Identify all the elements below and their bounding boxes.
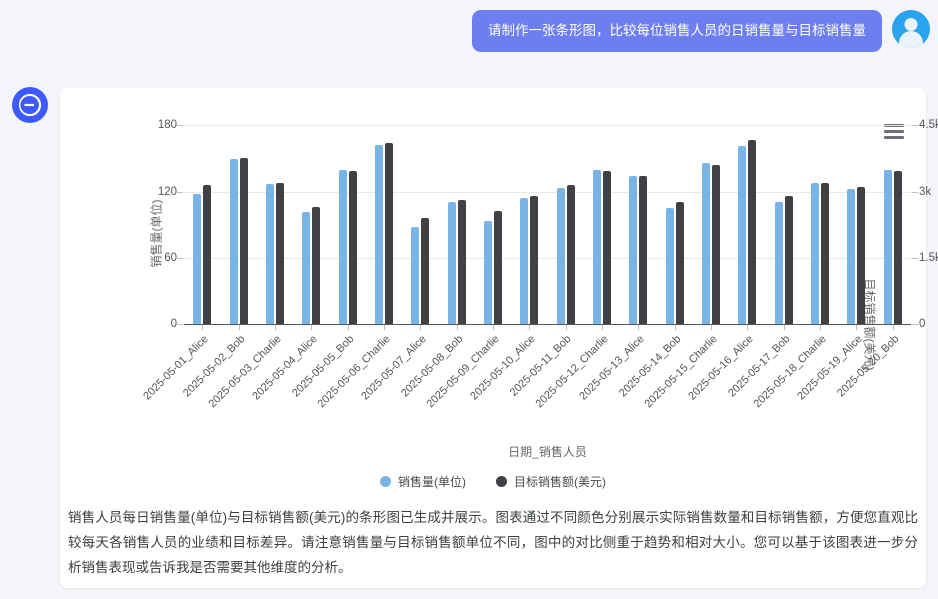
chart-legend: 销售量(单位) 目标销售额(美元) — [60, 473, 926, 490]
bar-target[interactable] — [349, 171, 357, 324]
user-message-row: 请制作一张条形图，比较每位销售人员的日销售量与目标销售量 — [472, 10, 930, 52]
bar-group[interactable] — [184, 125, 220, 324]
bar-sales[interactable] — [230, 159, 238, 324]
tick-right-0 — [912, 324, 918, 325]
bar-group[interactable] — [547, 125, 583, 324]
legend-item-target[interactable]: 目标销售额(美元) — [496, 473, 606, 490]
x-axis-tick-labels: 2025-05-01_Alice2025-05-02_Bob2025-05-03… — [184, 331, 911, 431]
bar-target[interactable] — [458, 200, 466, 324]
x-tick-mark — [893, 325, 894, 330]
bar-group[interactable] — [402, 125, 438, 324]
x-tick-mark — [202, 325, 203, 330]
tick-left-60 — [177, 258, 183, 259]
bar-sales[interactable] — [484, 221, 492, 324]
tick-right-4500 — [912, 125, 918, 126]
x-tick-mark — [602, 325, 603, 330]
bar-group[interactable] — [729, 125, 765, 324]
y-tick-label-0: 0 — [171, 318, 177, 330]
y-tick-label-180: 180 — [158, 119, 177, 131]
x-tick-mark — [420, 325, 421, 330]
bar-target[interactable] — [603, 171, 611, 324]
x-tick-mark — [747, 325, 748, 330]
bar-sales[interactable] — [520, 198, 528, 324]
tick-left-0 — [177, 324, 183, 325]
y2-tick-label-4500: 4.5k — [919, 119, 938, 131]
avatar-head — [905, 18, 918, 31]
bar-sales[interactable] — [666, 208, 674, 324]
legend-label-sales: 销售量(单位) — [398, 473, 466, 490]
bar-target[interactable] — [639, 176, 647, 324]
avatar-body — [899, 31, 923, 48]
bar-group[interactable] — [693, 125, 729, 324]
x-tick-mark — [784, 325, 785, 330]
bar-target[interactable] — [276, 183, 284, 325]
bar-group[interactable] — [475, 125, 511, 324]
bar-sales[interactable] — [411, 227, 419, 324]
bar-group[interactable] — [766, 125, 802, 324]
user-message-bubble: 请制作一张条形图，比较每位销售人员的日销售量与目标销售量 — [472, 10, 882, 52]
bar-sales[interactable] — [193, 194, 201, 324]
bar-sales[interactable] — [629, 176, 637, 324]
tick-right-3000 — [912, 192, 918, 193]
bar-target[interactable] — [857, 187, 865, 324]
bar-sales[interactable] — [375, 145, 383, 324]
bar-sales[interactable] — [775, 202, 783, 324]
x-axis-title: 日期_销售人员 — [184, 443, 911, 460]
bar-sales[interactable] — [266, 184, 274, 324]
tick-left-180 — [177, 125, 183, 126]
bar-sales[interactable] — [557, 188, 565, 324]
tick-right-1500 — [912, 258, 918, 259]
assistant-response-card: 销售量(单位) 目标销售额(美元) 180 120 60 0 4.5k 3k — [60, 88, 926, 588]
x-tick-mark — [856, 325, 857, 330]
x-tick-mark — [529, 325, 530, 330]
bar-sales[interactable] — [847, 189, 855, 324]
bar-sales[interactable] — [448, 202, 456, 324]
x-tick-mark — [638, 325, 639, 330]
bar-group[interactable] — [220, 125, 256, 324]
bar-group[interactable] — [838, 125, 874, 324]
bar-chart[interactable]: 销售量(单位) 目标销售额(美元) 180 120 60 0 4.5k 3k — [60, 88, 926, 500]
bar-target[interactable] — [748, 140, 756, 324]
bar-target[interactable] — [240, 158, 248, 324]
y2-tick-label-0: 0 — [919, 318, 925, 330]
legend-color-dot-sales — [380, 476, 391, 487]
x-tick-mark — [384, 325, 385, 330]
x-tick-mark — [711, 325, 712, 330]
bar-sales[interactable] — [702, 163, 710, 324]
y-tick-label-60: 60 — [164, 252, 177, 264]
bar-target[interactable] — [821, 183, 829, 325]
bar-target[interactable] — [203, 185, 211, 324]
euler-e-logo-icon — [12, 87, 48, 123]
bar-sales[interactable] — [302, 212, 310, 324]
bar-group[interactable] — [438, 125, 474, 324]
bar-sales[interactable] — [738, 146, 746, 324]
y-axis-left-title: 销售量(单位) — [148, 200, 165, 268]
x-tick-mark — [675, 325, 676, 330]
plot-area: 180 120 60 0 4.5k 3k 1.5k 0 — [184, 125, 911, 325]
x-tick-mark — [566, 325, 567, 330]
bar-sales[interactable] — [593, 170, 601, 324]
bar-target[interactable] — [567, 185, 575, 324]
legend-label-target: 目标销售额(美元) — [514, 473, 606, 490]
assistant-description-text: 销售人员每日销售量(单位)与目标销售额(美元)的条形图已生成并展示。图表通过不同… — [60, 506, 926, 581]
legend-item-sales[interactable]: 销售量(单位) — [380, 473, 466, 490]
user-avatar-icon[interactable] — [892, 10, 930, 48]
bar-group[interactable] — [875, 125, 911, 324]
bar-group[interactable] — [366, 125, 402, 324]
bar-group[interactable] — [656, 125, 692, 324]
y2-tick-label-3000: 3k — [919, 186, 931, 198]
bar-target[interactable] — [385, 143, 393, 324]
bar-target[interactable] — [421, 218, 429, 324]
bar-group[interactable] — [511, 125, 547, 324]
bar-target[interactable] — [712, 165, 720, 324]
bar-groups — [184, 125, 911, 324]
y-tick-label-120: 120 — [158, 186, 177, 198]
bar-group[interactable] — [584, 125, 620, 324]
x-tick-mark — [348, 325, 349, 330]
bar-group[interactable] — [293, 125, 329, 324]
bar-target[interactable] — [785, 196, 793, 324]
bar-group[interactable] — [620, 125, 656, 324]
x-tick-mark — [457, 325, 458, 330]
x-tick-mark — [275, 325, 276, 330]
legend-color-dot-target — [496, 476, 507, 487]
x-tick-label: 2025-05-01_Alice — [141, 333, 210, 402]
bar-target[interactable] — [312, 207, 320, 324]
x-tick-label-cell: 2025-05-20_Bob — [875, 331, 911, 431]
bar-target[interactable] — [676, 202, 684, 324]
x-axis-line — [184, 324, 911, 325]
bar-sales[interactable] — [339, 170, 347, 324]
bar-sales[interactable] — [884, 170, 892, 324]
bar-group[interactable] — [329, 125, 365, 324]
bar-target[interactable] — [894, 171, 902, 324]
x-tick-mark — [239, 325, 240, 330]
bar-sales[interactable] — [811, 183, 819, 325]
bar-target[interactable] — [494, 211, 502, 324]
bar-group[interactable] — [257, 125, 293, 324]
x-tick-mark — [493, 325, 494, 330]
tick-left-120 — [177, 192, 183, 193]
bar-target[interactable] — [530, 196, 538, 324]
x-tick-mark — [311, 325, 312, 330]
bar-group[interactable] — [802, 125, 838, 324]
x-tick-mark — [820, 325, 821, 330]
y2-tick-label-1500: 1.5k — [919, 252, 938, 264]
